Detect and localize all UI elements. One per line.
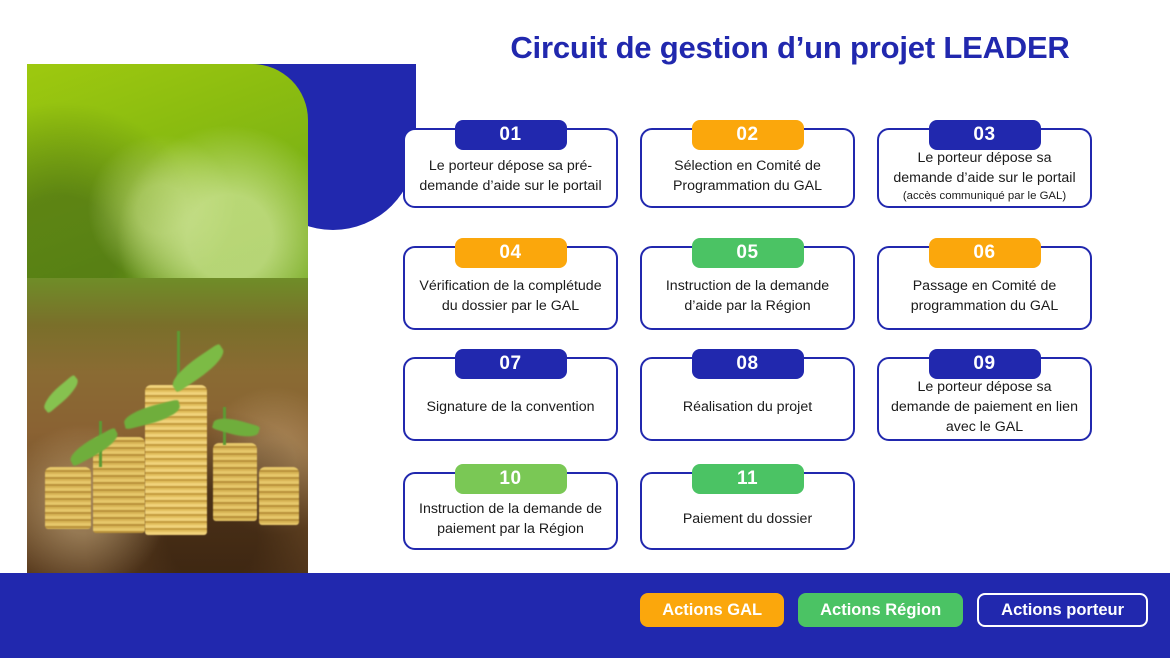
page-title: Circuit de gestion d’un projet LEADER xyxy=(420,30,1160,66)
step-badge-07: 07 xyxy=(455,349,567,379)
step-badge-09: 09 xyxy=(929,349,1041,379)
step-card-08[interactable]: 08Réalisation du projet xyxy=(640,357,855,441)
coins-and-sprouts-photo xyxy=(27,64,308,573)
step-description: Réalisation du projet xyxy=(683,399,812,415)
step-text-08: Réalisation du projet xyxy=(683,397,812,417)
step-badge-02: 02 xyxy=(692,120,804,150)
step-description: Instruction de la demande de paiement pa… xyxy=(419,501,602,537)
step-card-03[interactable]: 03Le porteur dépose sa demande d’aide su… xyxy=(877,128,1092,208)
step-text-11: Paiement du dossier xyxy=(683,509,812,529)
step-text-01: Le porteur dépose sa pré-demande d’aide … xyxy=(413,156,608,196)
coin-stack-icon xyxy=(259,467,299,525)
step-badge-01: 01 xyxy=(455,120,567,150)
legend-item-1[interactable]: Actions GAL xyxy=(640,593,784,627)
step-description: Le porteur dépose sa demande d’aide sur … xyxy=(893,150,1075,186)
step-badge-03: 03 xyxy=(929,120,1041,150)
step-description: Passage en Comité de programmation du GA… xyxy=(911,278,1058,314)
step-badge-04: 04 xyxy=(455,238,567,268)
step-description: Le porteur dépose sa pré-demande d’aide … xyxy=(419,158,601,194)
photo-green-background xyxy=(27,64,308,298)
step-card-01[interactable]: 01Le porteur dépose sa pré-demande d’aid… xyxy=(403,128,618,208)
step-badge-08: 08 xyxy=(692,349,804,379)
legend-item-2[interactable]: Actions Région xyxy=(798,593,963,627)
step-badge-10: 10 xyxy=(455,464,567,494)
legend-item-3[interactable]: Actions porteur xyxy=(977,593,1148,627)
step-card-02[interactable]: 02Sélection en Comité de Programmation d… xyxy=(640,128,855,208)
sprout-leaf-icon xyxy=(212,414,260,441)
step-text-03: Le porteur dépose sa demande d’aide sur … xyxy=(887,148,1082,204)
step-description: Signature de la convention xyxy=(426,399,594,415)
footer-bar: Actions GALActions RégionActions porteur xyxy=(0,573,1170,658)
sprout-leaf-icon xyxy=(40,374,83,413)
step-text-06: Passage en Comité de programmation du GA… xyxy=(887,276,1082,316)
step-description: Le porteur dépose sa demande de paiement… xyxy=(891,379,1078,435)
step-card-11[interactable]: 11Paiement du dossier xyxy=(640,472,855,550)
step-card-05[interactable]: 05Instruction de la demande d’aide par l… xyxy=(640,246,855,330)
step-description: Vérification de la complétude du dossier… xyxy=(419,278,601,314)
step-card-09[interactable]: 09Le porteur dépose sa demande de paieme… xyxy=(877,357,1092,441)
step-subtext: (accès communiqué par le GAL) xyxy=(887,189,1082,204)
step-text-04: Vérification de la complétude du dossier… xyxy=(413,276,608,316)
step-text-09: Le porteur dépose sa demande de paiement… xyxy=(887,377,1082,437)
step-card-07[interactable]: 07Signature de la convention xyxy=(403,357,618,441)
step-text-02: Sélection en Comité de Programmation du … xyxy=(650,156,845,196)
coin-stack-icon xyxy=(213,443,257,521)
step-text-07: Signature de la convention xyxy=(426,397,594,417)
coin-stack-icon xyxy=(45,467,91,529)
step-text-05: Instruction de la demande d’aide par la … xyxy=(650,276,845,316)
photo-soil-background xyxy=(27,278,308,573)
legend: Actions GALActions RégionActions porteur xyxy=(640,593,1148,627)
step-card-10[interactable]: 10Instruction de la demande de paiement … xyxy=(403,472,618,550)
step-card-04[interactable]: 04Vérification de la complétude du dossi… xyxy=(403,246,618,330)
step-description: Instruction de la demande d’aide par la … xyxy=(666,278,829,314)
step-description: Sélection en Comité de Programmation du … xyxy=(673,158,822,194)
step-card-06[interactable]: 06Passage en Comité de programmation du … xyxy=(877,246,1092,330)
step-badge-06: 06 xyxy=(929,238,1041,268)
step-badge-11: 11 xyxy=(692,464,804,494)
step-text-10: Instruction de la demande de paiement pa… xyxy=(413,499,608,539)
step-description: Paiement du dossier xyxy=(683,511,812,527)
step-badge-05: 05 xyxy=(692,238,804,268)
slide-canvas: Circuit de gestion d’un projet LEADER 01… xyxy=(0,0,1170,658)
